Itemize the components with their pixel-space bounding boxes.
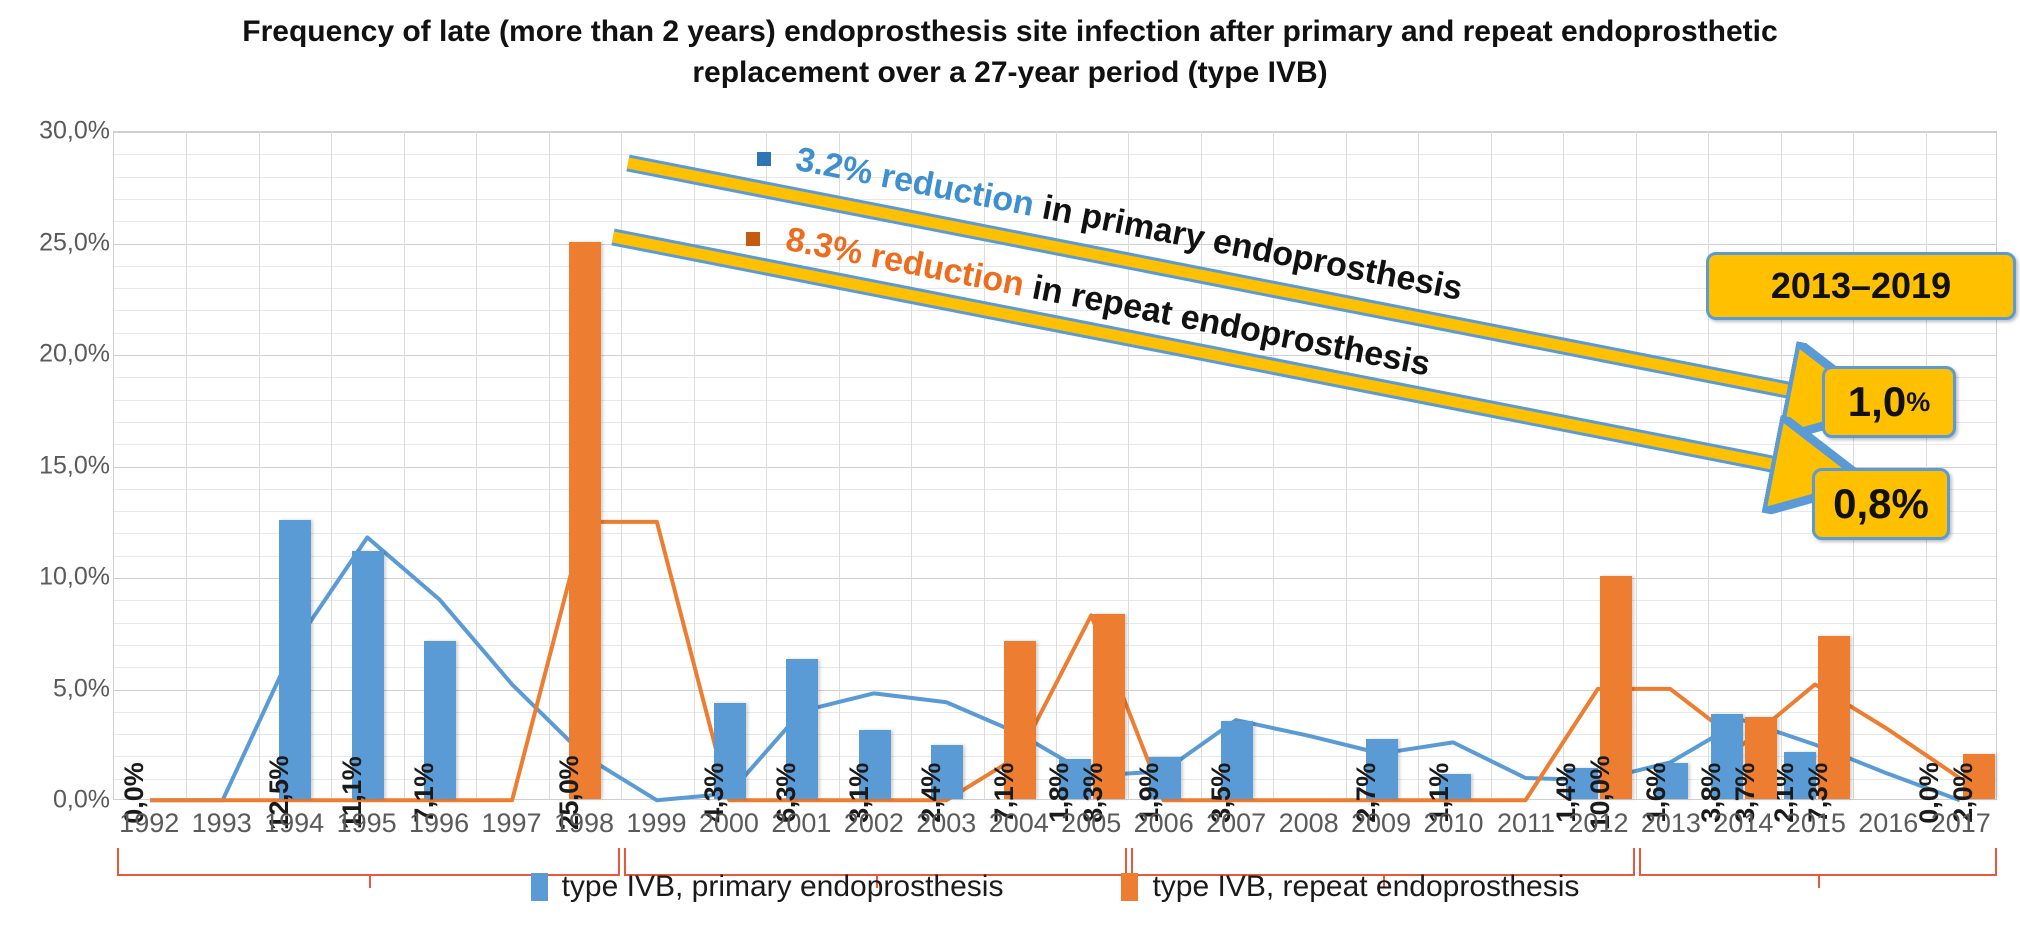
plot-area: 0,0%12,5%11,1%7,1%4,3%6,3%3,1%2,4%1,8%1,… — [113, 131, 1997, 800]
y-axis-tick-label: 20,0% — [0, 340, 110, 369]
y-axis-tick-label: 5,0% — [0, 674, 110, 703]
x-axis-tick-label: 2013 — [1641, 808, 1701, 839]
x-axis-tick-label: 1998 — [554, 808, 614, 839]
x-axis-tick-label: 2008 — [1279, 808, 1339, 839]
x-axis-tick-label: 1999 — [626, 808, 686, 839]
chart-title: Frequency of late (more than 2 years) en… — [110, 12, 1910, 93]
x-axis-tick-label: 2014 — [1713, 808, 1773, 839]
x-axis-tick-label: 2017 — [1931, 808, 1991, 839]
y-axis-tick-label: 25,0% — [0, 228, 110, 257]
bar: 7,1% — [424, 641, 456, 799]
x-axis-tick-label: 2007 — [1206, 808, 1266, 839]
bar: 11,1% — [352, 551, 384, 799]
chart-title-line-2: replacement over a 27-year period (type … — [110, 53, 1910, 94]
y-axis-tick-label: 15,0% — [0, 451, 110, 480]
bar: 3,7% — [1745, 717, 1777, 800]
x-axis-tick-label: 2010 — [1423, 808, 1483, 839]
x-axis-tick-label: 2016 — [1858, 808, 1918, 839]
callout-period-box: 2013–2019 — [1706, 252, 2016, 320]
bar: 4,3% — [714, 703, 746, 799]
chart-root: Frequency of late (more than 2 years) en… — [0, 0, 2020, 926]
legend-item-label: type IVB, repeat endoprosthesis — [1152, 870, 1579, 904]
callout-primary-percent-sign: % — [1906, 387, 1930, 418]
y-axis-tick-label: 0,0% — [0, 786, 110, 815]
x-axis-tick-label: 2006 — [1134, 808, 1194, 839]
x-axis-tick-label: 2002 — [844, 808, 904, 839]
x-axis-tick-label: 1993 — [192, 808, 252, 839]
legend-item-label: type IVB, primary endoprosthesis — [562, 870, 1004, 904]
bar: 3,1% — [859, 730, 891, 799]
x-axis-tick-label: 1997 — [481, 808, 541, 839]
x-axis: 1992199319941995199619971998199920002001… — [113, 808, 1997, 852]
x-axis-tick-label: 2011 — [1497, 808, 1555, 839]
x-axis-tick-label: 2000 — [699, 808, 759, 839]
x-axis-tick-label: 1995 — [337, 808, 397, 839]
bar: 1,6% — [1656, 763, 1688, 799]
bar: 7,3% — [1818, 636, 1850, 799]
bar: 10,0% — [1600, 576, 1632, 799]
bar: 3,5% — [1221, 721, 1253, 799]
bar: 2,4% — [931, 745, 963, 799]
x-axis-tick-label: 1996 — [409, 808, 469, 839]
bar: 2,7% — [1366, 739, 1398, 799]
legend-swatch-icon — [531, 873, 548, 901]
x-axis-tick-label: 2012 — [1568, 808, 1628, 839]
y-axis-tick-label: 30,0% — [0, 117, 110, 146]
x-axis-tick-label: 2001 — [771, 808, 831, 839]
callout-primary-value-box: 1,0% — [1822, 366, 1956, 438]
chart-legend: type IVB, primary endoprosthesistype IVB… — [113, 862, 1997, 912]
x-axis-tick-label: 2005 — [1061, 808, 1121, 839]
x-axis-tick-label: 1994 — [264, 808, 324, 839]
x-axis-tick-label: 2009 — [1351, 808, 1411, 839]
bar: 2,0% — [1963, 754, 1995, 799]
callout-period-label: 2013–2019 — [1771, 265, 1951, 307]
bar: 7,1% — [1004, 641, 1036, 799]
bar: 1,9% — [1149, 757, 1181, 799]
legend-item[interactable]: type IVB, repeat endoprosthesis — [1121, 870, 1579, 904]
x-axis-tick-label: 2003 — [916, 808, 976, 839]
bar: 1,1% — [1439, 774, 1471, 799]
callout-primary-value: 1,0 — [1848, 378, 1906, 426]
bar: 25,0% — [569, 242, 601, 800]
bar-series-layer: 0,0%12,5%11,1%7,1%4,3%6,3%3,1%2,4%1,8%1,… — [114, 132, 1996, 799]
callout-repeat-value-box: 0,8% — [1812, 468, 1950, 540]
callout-repeat-value: 0,8% — [1833, 480, 1929, 528]
x-axis-tick-label: 1992 — [119, 808, 179, 839]
chart-title-line-1: Frequency of late (more than 2 years) en… — [110, 12, 1910, 53]
bar: 6,3% — [786, 659, 818, 799]
legend-item[interactable]: type IVB, primary endoprosthesis — [531, 870, 1004, 904]
legend-swatch-icon — [1121, 873, 1138, 901]
bar: 12,5% — [279, 520, 311, 799]
y-axis-tick-label: 10,0% — [0, 563, 110, 592]
bar: 8,3% — [1093, 614, 1125, 799]
x-axis-tick-label: 2015 — [1786, 808, 1846, 839]
x-axis-tick-label: 2004 — [989, 808, 1049, 839]
